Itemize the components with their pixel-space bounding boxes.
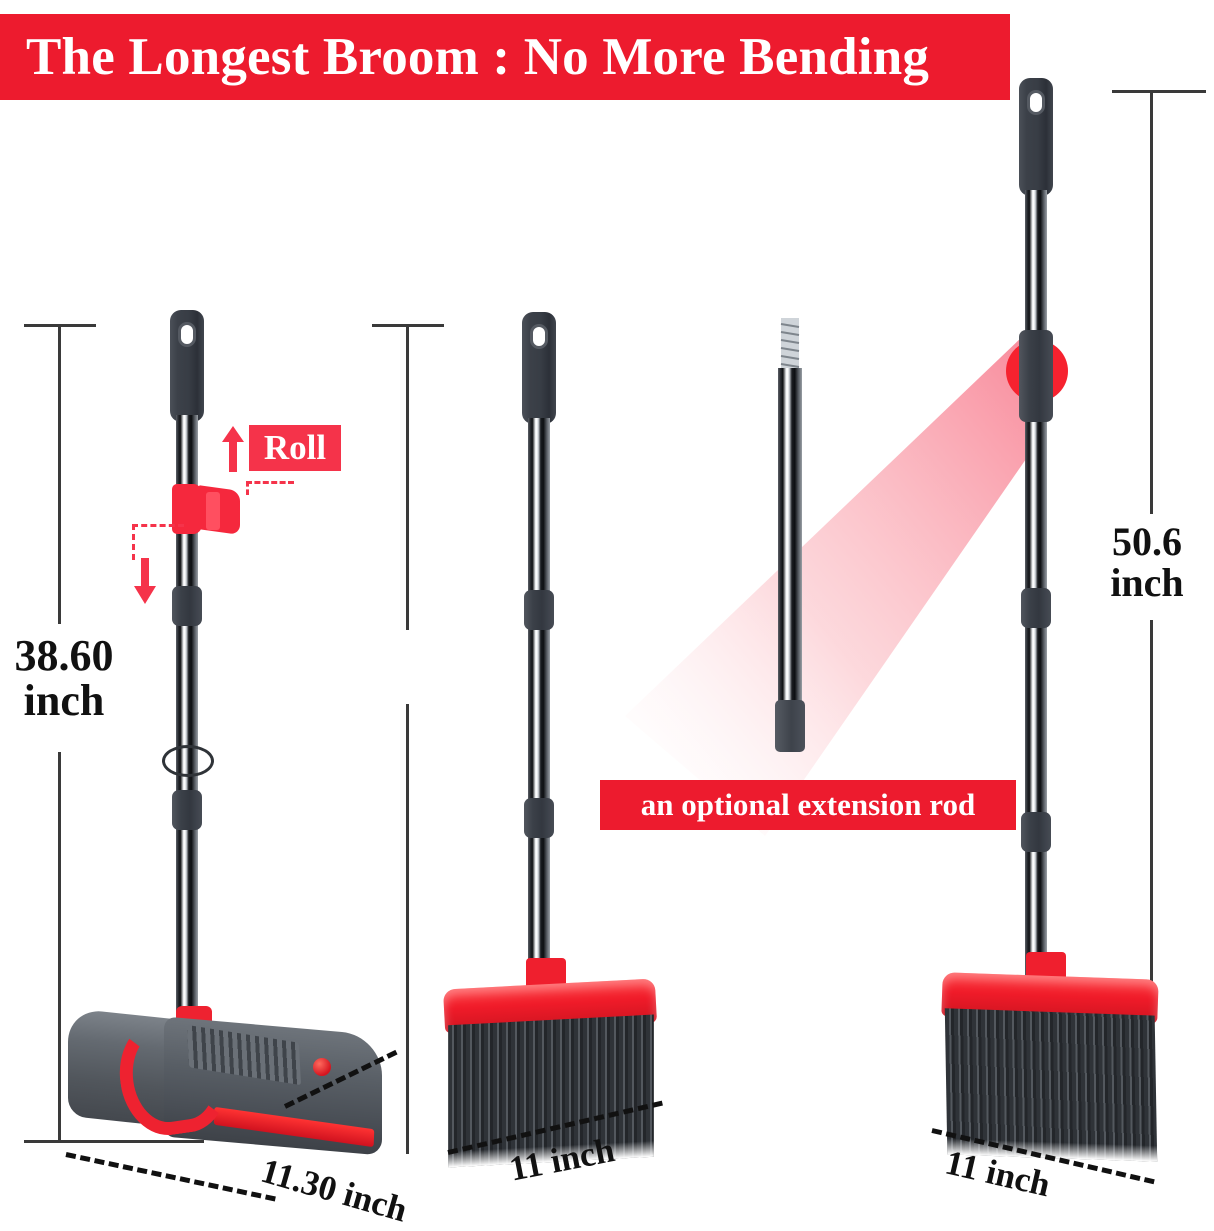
handle-grip-1 — [170, 310, 204, 422]
pole-collar-4b — [1021, 588, 1051, 628]
hanging-hole-icon — [178, 322, 196, 347]
arrow-down-icon — [132, 556, 158, 606]
pole-collar-1a — [172, 586, 202, 626]
pole-collar-2b — [524, 798, 554, 838]
roll-dash-top-h — [246, 481, 294, 484]
dustpan-width-dash-front — [65, 1152, 275, 1201]
hanging-hole-icon-4 — [1027, 90, 1045, 115]
handle-grip-4 — [1019, 78, 1053, 196]
roll-clip-highlight — [206, 492, 220, 530]
roll-dash-bottom-v — [132, 524, 135, 560]
telescoping-pole-2 — [528, 418, 550, 966]
measure-ref-line-upper — [406, 324, 409, 630]
extension-rod-end-cap — [775, 700, 805, 752]
roll-dash-top-v — [246, 481, 249, 495]
extension-rod-shaft — [778, 368, 802, 706]
telescoping-pole-4 — [1025, 190, 1047, 980]
measure-ref-line-lower — [406, 704, 409, 1154]
page-title: The Longest Broom : No More Bending — [0, 31, 929, 84]
infographic-canvas: The Longest Broom : No More Bending 38.6… — [0, 0, 1214, 1214]
pole-collar-4c — [1021, 812, 1051, 852]
pole-collar-4a — [1019, 330, 1053, 422]
measure-label-dustpan-height: 38.60 inch — [0, 634, 128, 724]
highlight-glow-cone — [615, 296, 1035, 836]
pole-ring-detail — [162, 745, 214, 777]
handle-grip-2 — [522, 312, 556, 424]
pole-collar-2a — [524, 590, 554, 630]
extension-rod-callout-ribbon: an optional extension rod — [600, 780, 1016, 830]
dustpan-width-label: 11.30 inch — [256, 1151, 411, 1231]
hanging-hole-icon-2 — [530, 324, 548, 349]
arrow-up-icon — [219, 424, 247, 474]
measure-right-line-upper — [1150, 90, 1153, 514]
header-banner: The Longest Broom : No More Bending — [0, 14, 1010, 100]
measure-line-upper — [58, 324, 61, 624]
broom-head-4 — [930, 952, 1180, 1152]
measure-label-broom-height: 50.6 inch — [1084, 522, 1210, 604]
pole-collar-1b — [172, 790, 202, 830]
dustpan-release-button[interactable] — [313, 1058, 331, 1076]
dustpan[interactable] — [60, 1000, 380, 1150]
measure-right-top-cap — [1112, 90, 1206, 93]
roll-callout-badge: Roll — [249, 425, 341, 471]
roll-dash-bottom-h — [132, 524, 184, 527]
extension-rod-threaded-tip — [777, 318, 803, 372]
